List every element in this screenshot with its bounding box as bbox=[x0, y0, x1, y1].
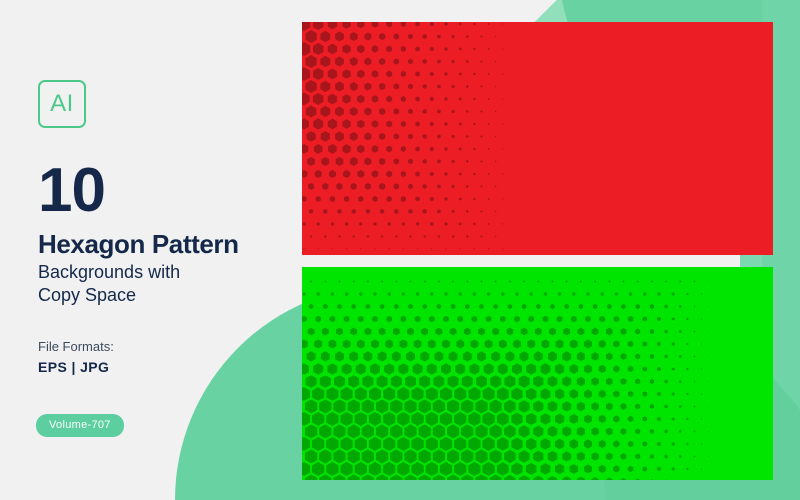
green-hexagon-halftone bbox=[302, 267, 773, 480]
page-subtitle-line-2: Copy Space bbox=[38, 284, 288, 307]
page-title: Hexagon Pattern bbox=[38, 230, 288, 258]
item-count: 10 bbox=[38, 160, 288, 222]
ai-badge-label: AI bbox=[50, 92, 74, 116]
info-column: AI 10 Hexagon Pattern Backgrounds with C… bbox=[38, 80, 288, 375]
file-formats-label: File Formats: bbox=[38, 339, 288, 354]
volume-badge: Volume-707 bbox=[36, 414, 124, 437]
ai-format-badge: AI bbox=[38, 80, 86, 128]
poster-canvas: AI 10 Hexagon Pattern Backgrounds with C… bbox=[0, 0, 800, 500]
file-formats-value: EPS | JPG bbox=[38, 359, 288, 375]
preview-panel-red bbox=[302, 22, 773, 255]
preview-panel-green bbox=[302, 267, 773, 480]
page-subtitle-line-1: Backgrounds with bbox=[38, 261, 288, 284]
red-hexagon-halftone bbox=[302, 22, 773, 255]
page-subtitle: Backgrounds with Copy Space bbox=[38, 261, 288, 306]
